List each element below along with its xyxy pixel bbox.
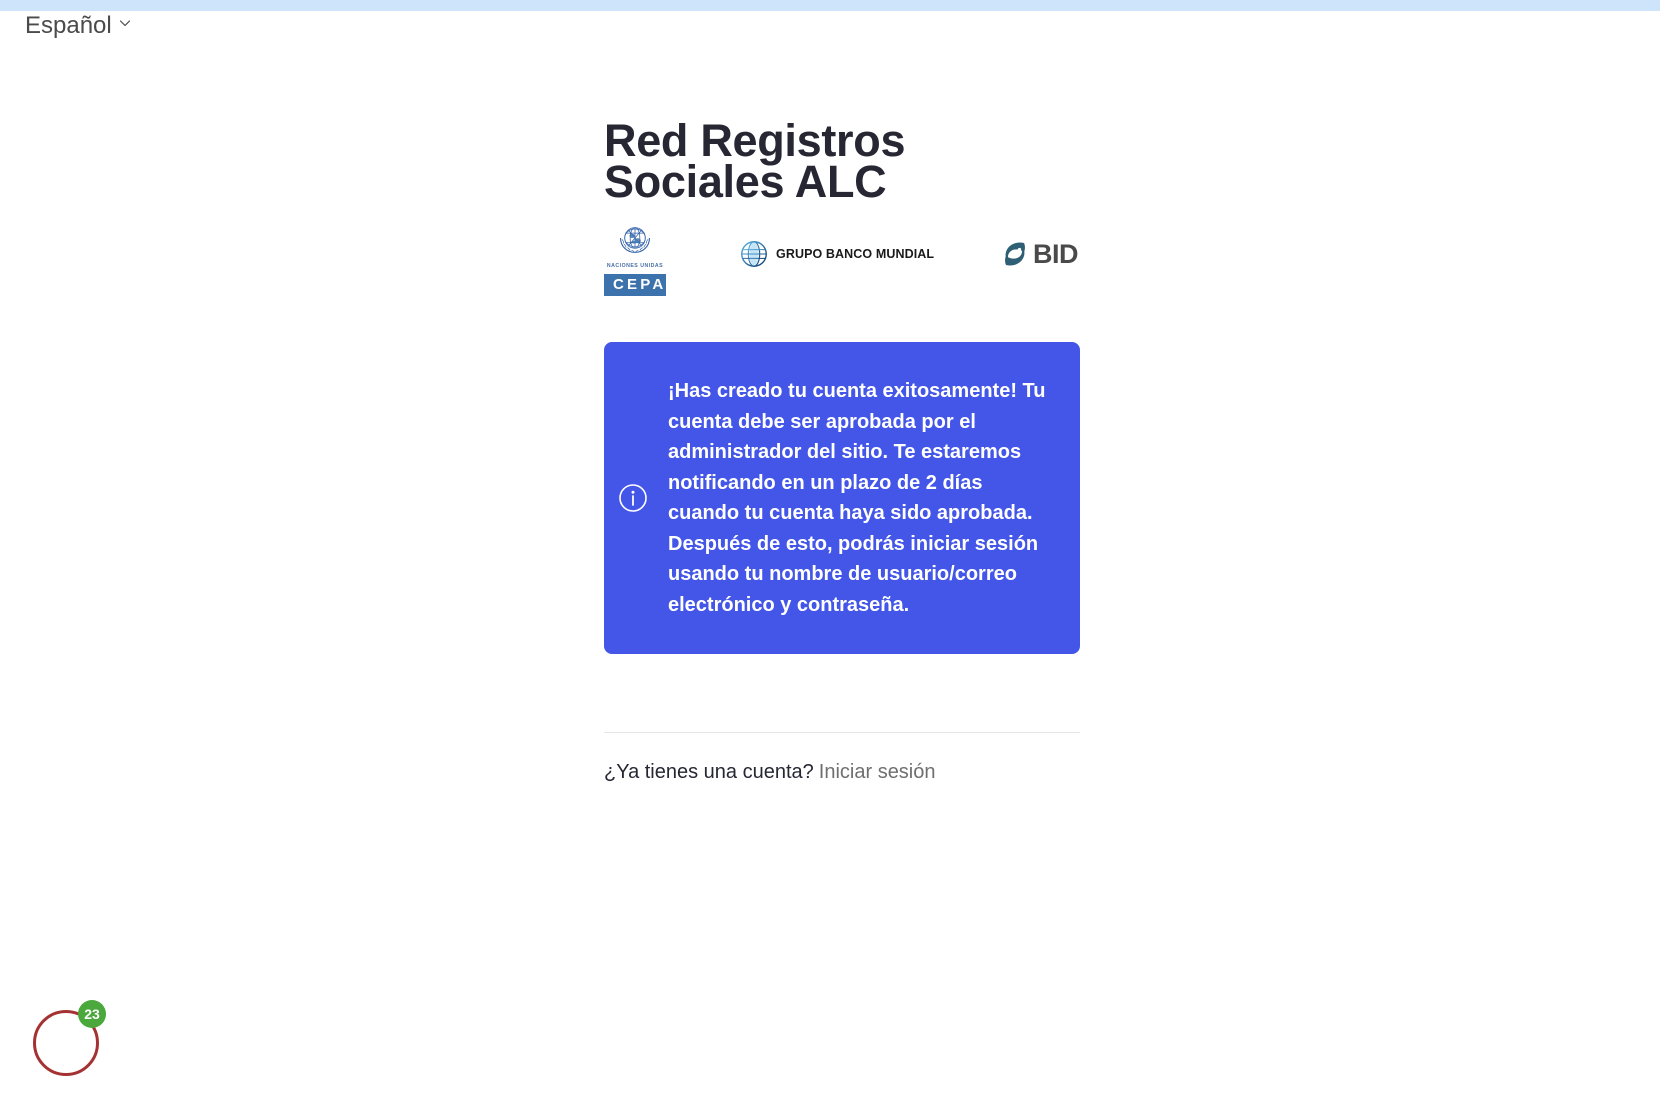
status-alert-message: ¡Has creado tu cuenta exitosamente! Tu c…: [668, 376, 1052, 620]
status-alert: ¡Has creado tu cuenta exitosamente! Tu c…: [604, 342, 1080, 654]
logo-bid: BID: [999, 238, 1078, 270]
language-selector-label: Español: [25, 11, 112, 41]
logo-cepal: Naciones Unidas CEPAL: [604, 218, 666, 296]
page-title: Red Registros Sociales ALC: [604, 120, 1080, 202]
notification-count-badge[interactable]: 23: [78, 1000, 106, 1028]
world-bank-globe-icon: [740, 240, 768, 268]
bid-wordmark: BID: [1033, 241, 1078, 268]
bid-swirl-icon: [999, 238, 1031, 270]
world-bank-wordmark: GRUPO BANCO MUNDIAL: [776, 247, 934, 261]
language-bar: Español: [0, 11, 1660, 49]
cepal-wordmark: CEPAL: [604, 274, 666, 296]
login-prompt: ¿Ya tienes una cuenta?Iniciar sesión: [604, 759, 1080, 785]
login-prompt-text: ¿Ya tienes una cuenta?: [604, 761, 814, 783]
logo-world-bank-group: GRUPO BANCO MUNDIAL: [740, 240, 934, 268]
un-emblem-icon: [613, 218, 657, 262]
un-emblem-caption: Naciones Unidas: [607, 263, 663, 269]
info-circle-icon: [618, 483, 648, 513]
top-accent-strip: [0, 0, 1660, 11]
login-link[interactable]: Iniciar sesión: [819, 761, 936, 783]
section-divider: [604, 732, 1080, 733]
partner-logos: Naciones Unidas CEPAL G: [604, 216, 1080, 306]
main-content: Red Registros Sociales ALC: [604, 120, 1080, 785]
language-selector[interactable]: Español: [25, 11, 131, 41]
notification-widget[interactable]: 23: [33, 1000, 113, 1080]
chevron-down-icon: [119, 17, 131, 29]
